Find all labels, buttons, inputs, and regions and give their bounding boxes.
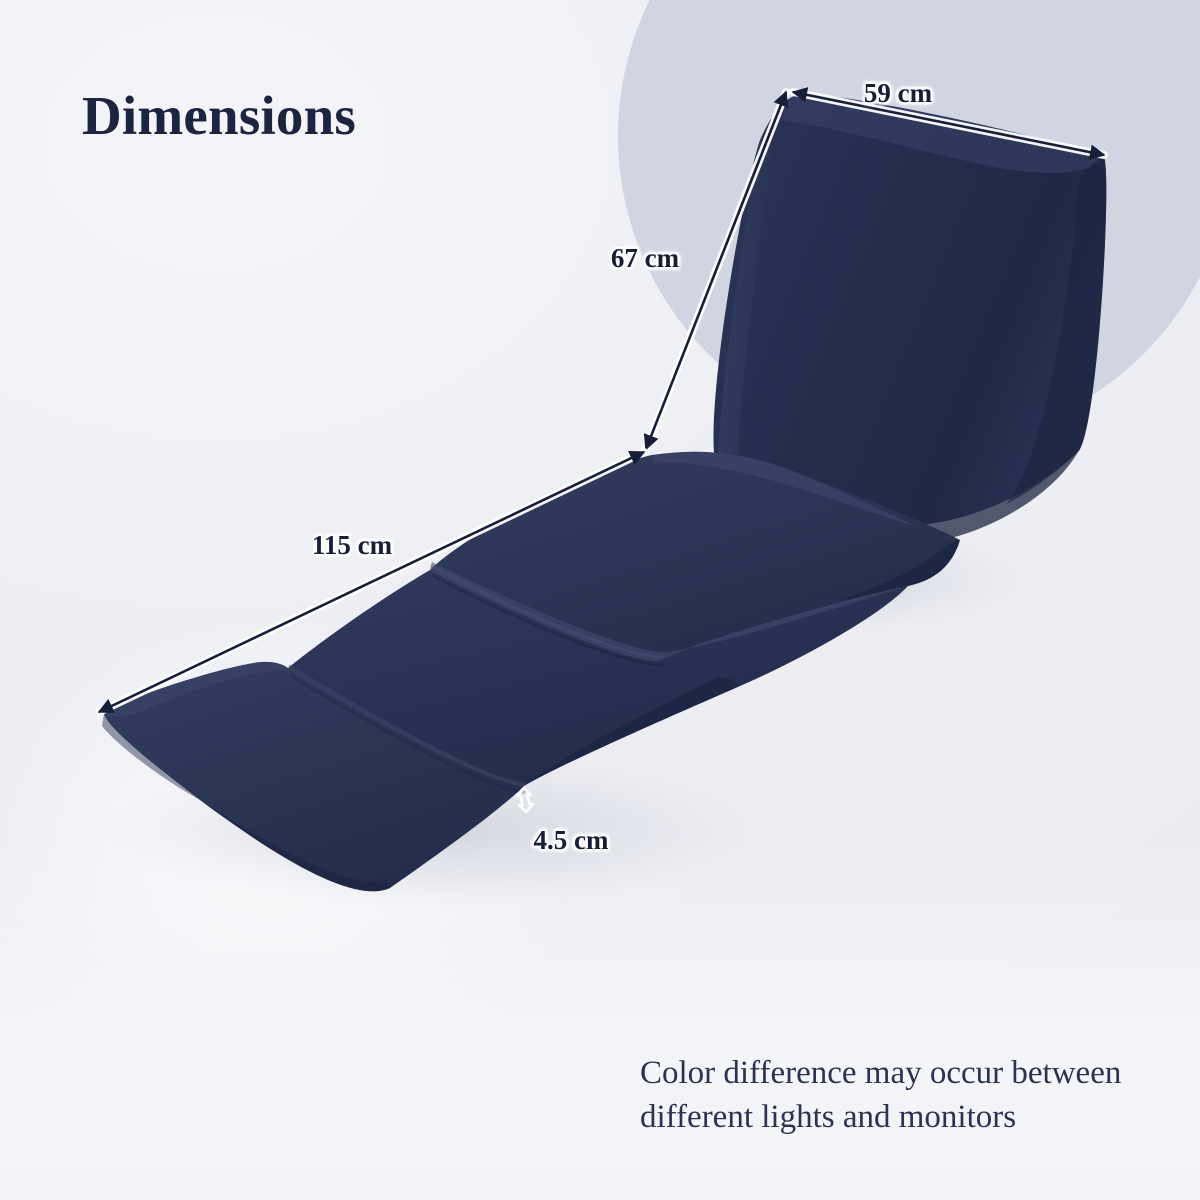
dimension-label-width: 59 cm [864, 78, 932, 109]
dimensions-infographic: Dimensions 59 cm 67 cm 115 cm 4.5 cm Col… [0, 0, 1200, 1200]
dimension-label-thickness: 4.5 cm [534, 825, 609, 856]
color-disclaimer: Color difference may occur between diffe… [640, 1052, 1170, 1139]
dimension-label-length: 115 cm [312, 530, 392, 561]
dimension-label-backrest: 67 cm [611, 243, 679, 274]
background-bottom-wash [0, 840, 1200, 1200]
page-title: Dimensions [82, 84, 356, 147]
